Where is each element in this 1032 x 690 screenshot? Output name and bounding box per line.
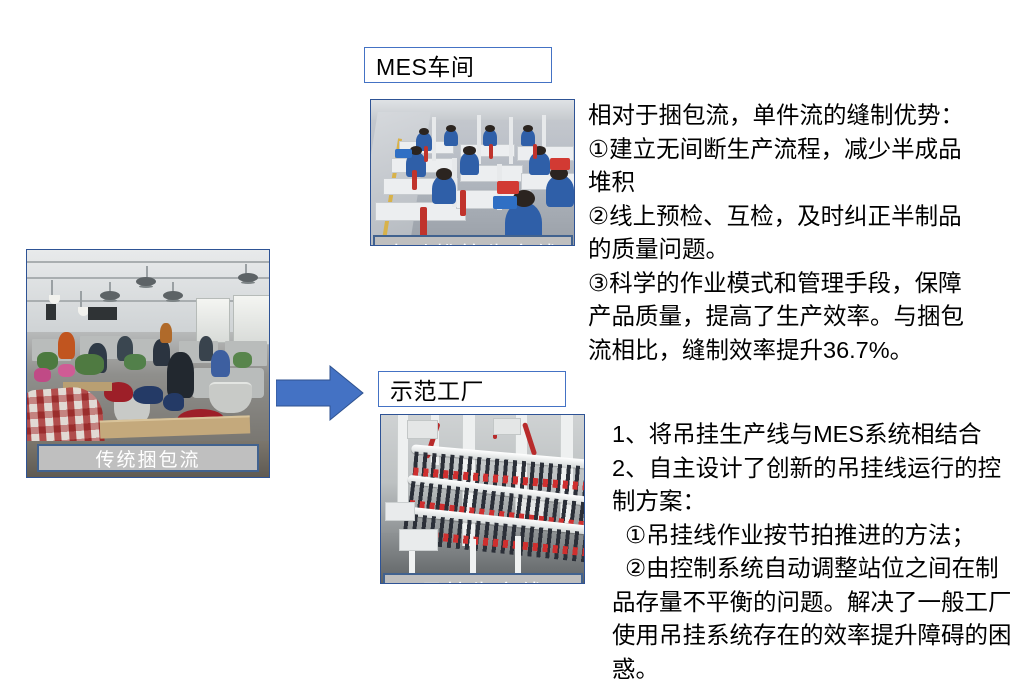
control-box	[493, 418, 521, 435]
window	[233, 295, 269, 345]
hanging-line-scene	[381, 415, 584, 583]
worker	[167, 352, 194, 397]
machine-post	[509, 117, 513, 163]
thread-spool	[489, 144, 493, 160]
caption-traditional-bundle-flow: 传统捆包流	[37, 444, 259, 472]
thread-spool	[533, 144, 537, 160]
fabric-pile	[75, 354, 104, 374]
worker-head	[463, 146, 475, 155]
worker	[160, 323, 172, 343]
caption-electric-basket-line: 电动推筐生产线	[373, 235, 573, 246]
worker	[546, 175, 574, 207]
title-mes-workshop: MES车间	[376, 48, 474, 82]
demo-factory-text: 1、将吊挂生产线与MES系统相结合 2、自主设计了创新的吊挂线运行的控 制方案：…	[612, 418, 1022, 686]
worker	[432, 175, 456, 204]
ceiling-fan-icon	[100, 291, 120, 300]
flow-arrow	[276, 364, 364, 422]
traditional-bundle-flow-photo: 传统捆包流	[26, 249, 270, 478]
window	[196, 298, 229, 343]
fabric-pile	[58, 364, 75, 378]
control-box	[407, 420, 437, 439]
ceiling-fan-icon	[163, 291, 183, 300]
fabric-pile	[233, 352, 252, 368]
blue-garment-pile	[163, 393, 185, 411]
worker	[460, 152, 478, 175]
electric-basket-line-photo: 电动推筐生产线	[370, 99, 575, 246]
blue-basket	[493, 196, 517, 209]
lamp-cord	[51, 280, 53, 296]
fabric-pile	[34, 368, 51, 382]
blue-basket	[395, 149, 411, 158]
wall-board	[88, 307, 117, 321]
work-desk	[385, 502, 415, 521]
flow-arrow-icon	[276, 364, 364, 422]
wall-board	[46, 304, 56, 320]
fabric-pile	[124, 354, 146, 370]
title-box-mes-workshop: MES车间	[364, 47, 552, 83]
worker-head	[485, 125, 495, 132]
title-box-demo-factory: 示范工厂	[378, 371, 566, 407]
thread-spool	[460, 190, 466, 216]
ceiling-fan-icon	[238, 273, 258, 282]
thread-spool	[424, 146, 428, 162]
traditional-workshop-scene	[27, 250, 269, 477]
ceiling-beam	[27, 261, 269, 263]
machine-post	[432, 117, 436, 161]
thread-spool	[412, 170, 417, 190]
worker	[529, 152, 549, 175]
blue-garment-pile	[133, 386, 162, 404]
lamp-cord	[80, 291, 82, 307]
mes-workshop-scene	[371, 100, 574, 245]
worker	[58, 332, 75, 359]
hanging-production-line-photo: 吊挂生产线	[380, 414, 585, 584]
red-basket	[497, 181, 519, 194]
worker-head	[446, 125, 456, 132]
mes-advantages-text: 相对于捆包流，单件流的缝制优势： ①建立无间断生产流程，减少半成品 堆积 ②线上…	[588, 99, 1008, 367]
worker	[211, 350, 230, 377]
title-demo-factory: 示范工厂	[390, 372, 484, 406]
work-basket	[209, 382, 253, 414]
caption-hanging-production-line: 吊挂生产线	[383, 573, 583, 584]
worker-head	[419, 128, 429, 135]
worker-head	[436, 168, 452, 180]
work-desk	[399, 529, 438, 551]
red-basket	[550, 158, 570, 170]
